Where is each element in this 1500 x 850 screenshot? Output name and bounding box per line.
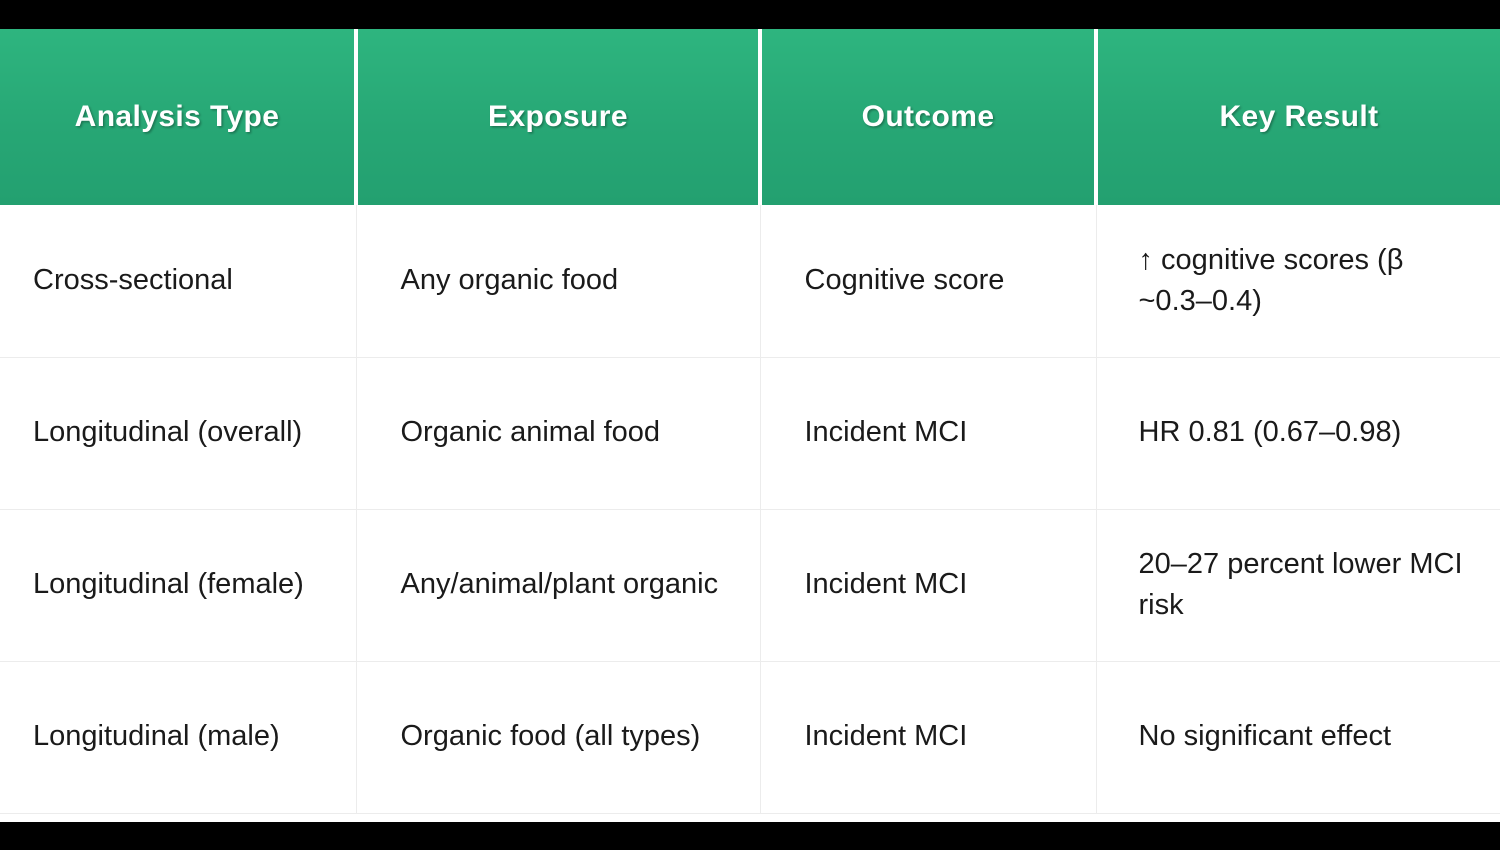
cell-text: Incident MCI	[805, 564, 1078, 605]
cell-exposure: Any organic food	[356, 205, 760, 357]
cell-outcome: Incident MCI	[760, 509, 1096, 661]
table-row: Longitudinal (female) Any/animal/plant o…	[0, 509, 1500, 661]
cell-text: 20–27 percent lower MCI risk	[1139, 544, 1469, 626]
table-row: Longitudinal (overall) Organic animal fo…	[0, 357, 1500, 509]
column-header-key-result: Key Result	[1096, 29, 1500, 205]
cell-outcome: Incident MCI	[760, 661, 1096, 813]
cell-text: No significant effect	[1139, 716, 1469, 757]
letterbox-bottom-bar	[0, 822, 1500, 850]
cell-analysis-type: Cross-sectional	[0, 205, 356, 357]
column-header-outcome: Outcome	[760, 29, 1096, 205]
cell-analysis-type: Longitudinal (female)	[0, 509, 356, 661]
table-row: Cross-sectional Any organic food Cogniti…	[0, 205, 1500, 357]
cell-key-result: No significant effect	[1096, 661, 1500, 813]
cell-text: Longitudinal (female)	[33, 564, 338, 605]
cell-text: Cross-sectional	[33, 260, 338, 301]
cell-text: Incident MCI	[805, 716, 1078, 757]
cell-key-result: ↑ cognitive scores (β ~0.3–0.4)	[1096, 205, 1500, 357]
cell-text: Longitudinal (overall)	[33, 412, 338, 453]
column-header-exposure: Exposure	[356, 29, 760, 205]
cell-key-result: 20–27 percent lower MCI risk	[1096, 509, 1500, 661]
cell-text: Longitudinal (male)	[33, 716, 338, 757]
cell-text: Any organic food	[401, 260, 731, 301]
table-header-row: Analysis Type Exposure Outcome Key Resul…	[0, 29, 1500, 205]
cell-exposure: Any/animal/plant organic	[356, 509, 760, 661]
cell-outcome: Incident MCI	[760, 357, 1096, 509]
table-row: Longitudinal (male) Organic food (all ty…	[0, 661, 1500, 813]
cell-outcome: Cognitive score	[760, 205, 1096, 357]
column-header-analysis-type: Analysis Type	[0, 29, 356, 205]
slide-canvas: Analysis Type Exposure Outcome Key Resul…	[0, 29, 1500, 822]
cell-text: Cognitive score	[805, 260, 1078, 301]
cell-text: Organic food (all types)	[401, 716, 731, 757]
slide-screen: Analysis Type Exposure Outcome Key Resul…	[0, 0, 1500, 850]
cell-text: ↑ cognitive scores (β ~0.3–0.4)	[1139, 240, 1469, 322]
cell-text: Any/animal/plant organic	[401, 564, 731, 605]
results-table: Analysis Type Exposure Outcome Key Resul…	[0, 29, 1500, 814]
cell-exposure: Organic food (all types)	[356, 661, 760, 813]
cell-analysis-type: Longitudinal (overall)	[0, 357, 356, 509]
cell-analysis-type: Longitudinal (male)	[0, 661, 356, 813]
cell-key-result: HR 0.81 (0.67–0.98)	[1096, 357, 1500, 509]
cell-exposure: Organic animal food	[356, 357, 760, 509]
letterbox-top-bar	[0, 0, 1500, 29]
table-header: Analysis Type Exposure Outcome Key Resul…	[0, 29, 1500, 205]
cell-text: Incident MCI	[805, 412, 1078, 453]
table-body: Cross-sectional Any organic food Cogniti…	[0, 205, 1500, 813]
cell-text: Organic animal food	[401, 412, 731, 453]
cell-text: HR 0.81 (0.67–0.98)	[1139, 412, 1469, 453]
